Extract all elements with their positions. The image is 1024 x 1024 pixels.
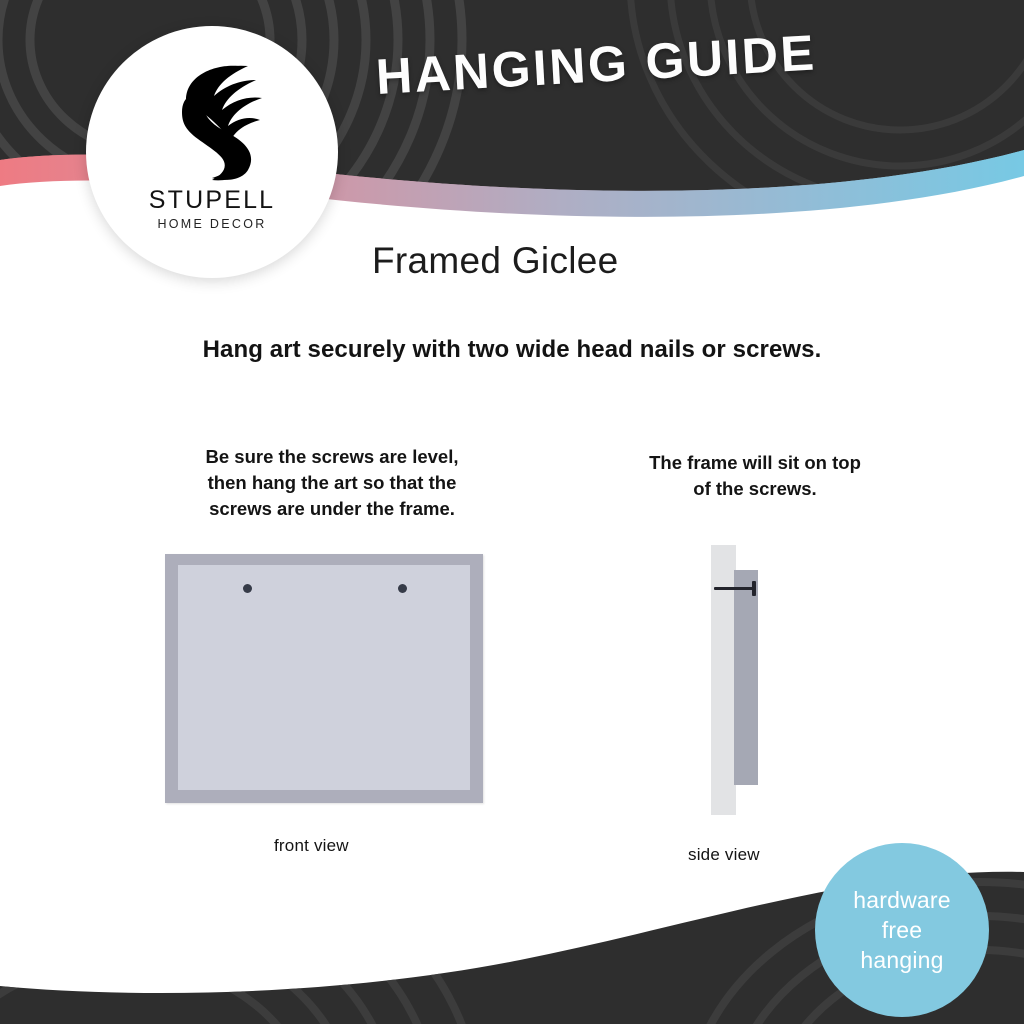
front-view-diagram bbox=[165, 554, 483, 803]
logo-wordmark: STUPELL bbox=[149, 186, 276, 215]
front-view-note: Be sure the screws are level, then hang … bbox=[142, 444, 522, 522]
front-view-note-line-1: Be sure the screws are level, bbox=[142, 444, 522, 470]
front-view-caption: front view bbox=[274, 836, 349, 856]
lead-instruction: Hang art securely with two wide head nai… bbox=[0, 336, 1024, 364]
page-title: HANGING GUIDE bbox=[374, 23, 817, 106]
side-view-note-line-1: The frame will sit on top bbox=[590, 450, 920, 476]
hanging-guide-infographic: STUPELL HOME DECOR HANGING GUIDE Framed … bbox=[0, 0, 1024, 1024]
frame-profile-strip bbox=[734, 570, 758, 785]
side-view-caption: side view bbox=[688, 845, 760, 865]
nail-head-icon bbox=[752, 581, 756, 596]
side-view-note-line-2: of the screws. bbox=[590, 476, 920, 502]
front-view-note-line-3: screws are under the frame. bbox=[142, 496, 522, 522]
badge-line-1: hardware bbox=[853, 885, 951, 915]
side-view-note: The frame will sit on top of the screws. bbox=[590, 450, 920, 502]
hardware-free-hanging-badge: hardware free hanging bbox=[815, 843, 989, 1017]
side-view-diagram bbox=[706, 545, 774, 815]
logo-tagline: HOME DECOR bbox=[157, 217, 266, 231]
stupell-swoosh-icon bbox=[152, 54, 272, 182]
frame-artwork-area bbox=[178, 565, 470, 790]
wall-strip bbox=[711, 545, 736, 815]
badge-line-3: hanging bbox=[860, 945, 943, 975]
stupell-logo-badge: STUPELL HOME DECOR bbox=[86, 26, 338, 278]
screw-dot-left bbox=[243, 584, 252, 593]
product-name: Framed Giclee bbox=[372, 240, 619, 282]
screw-dot-right bbox=[398, 584, 407, 593]
badge-line-2: free bbox=[882, 915, 922, 945]
front-view-note-line-2: then hang the art so that the bbox=[142, 470, 522, 496]
nail-shaft-icon bbox=[714, 587, 755, 590]
